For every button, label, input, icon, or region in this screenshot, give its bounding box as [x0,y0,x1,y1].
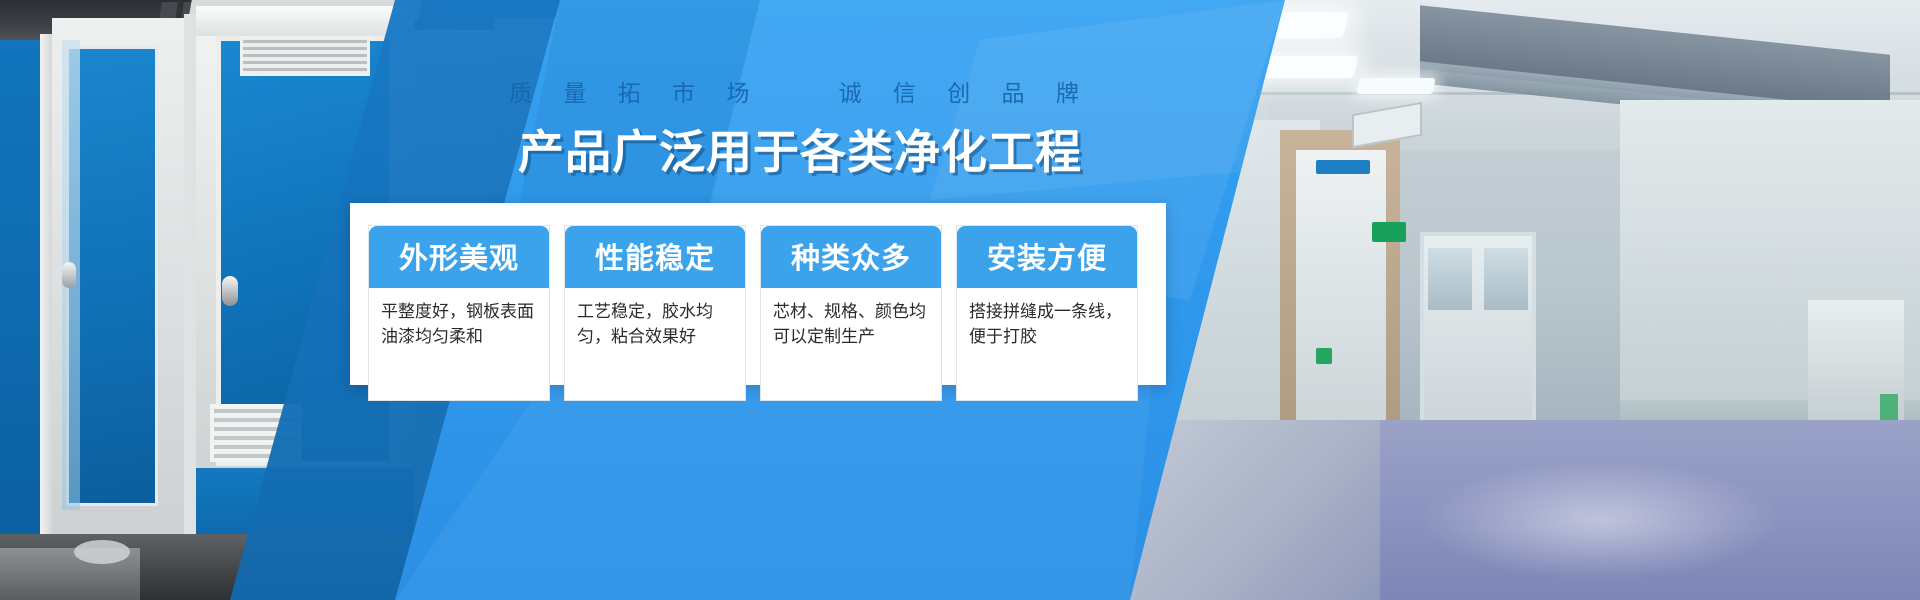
feature-card-strip: 外形美观 平整度好，钢板表面油漆均匀柔和 性能稳定 工艺稳定，胶水均匀，粘合效果… [350,203,1166,385]
banner-subtitle: 质 量 拓 市 场 诚 信 创 品 牌 [500,74,1100,108]
feature-card[interactable]: 种类众多 芯材、规格、颜色均可以定制生产 [760,225,942,401]
feature-card-body: 工艺稳定，胶水均匀，粘合效果好 [565,288,745,400]
feature-card[interactable]: 性能稳定 工艺稳定，胶水均匀，粘合效果好 [564,225,746,401]
feature-card-title: 种类众多 [761,226,941,288]
feature-card-body: 芯材、规格、颜色均可以定制生产 [761,288,941,400]
feature-card-title: 安装方便 [957,226,1137,288]
feature-card-body: 搭接拼缝成一条线，便于打胶 [957,288,1137,400]
feature-card[interactable]: 安装方便 搭接拼缝成一条线，便于打胶 [956,225,1138,401]
feature-card-title: 性能稳定 [565,226,745,288]
feature-card[interactable]: 外形美观 平整度好，钢板表面油漆均匀柔和 [368,225,550,401]
promo-banner: 质 量 拓 市 场 诚 信 创 品 牌 产品广泛用于各类净化工程 外形美观 平整… [0,0,1920,600]
banner-headline: 产品广泛用于各类净化工程 [470,116,1130,182]
feature-card-body: 平整度好，钢板表面油漆均匀柔和 [369,288,549,400]
feature-card-title: 外形美观 [369,226,549,288]
